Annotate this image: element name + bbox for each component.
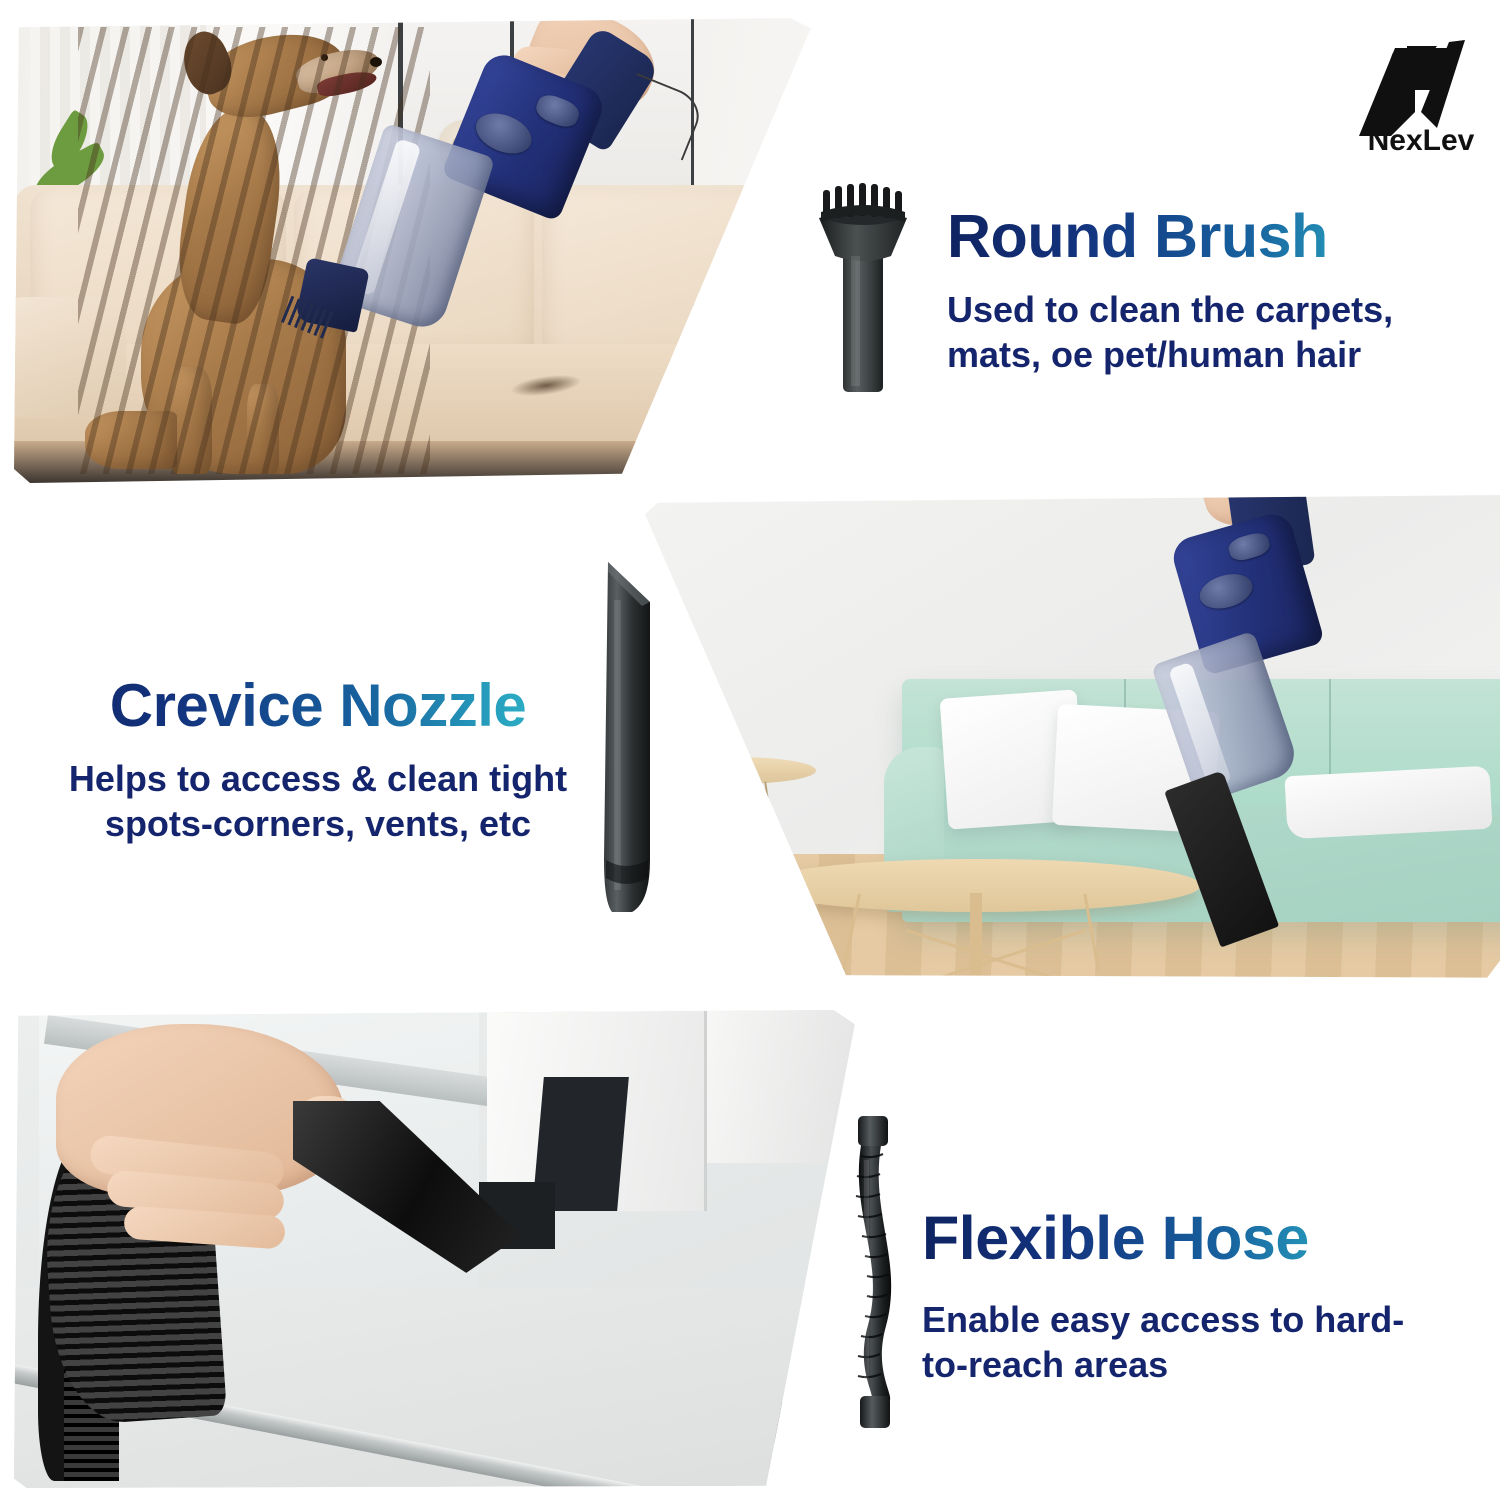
feature-description-crevice-nozzle: Helps to access & clean tight spots-corn… — [18, 756, 618, 847]
nexlev-n-logo-icon: NexLev — [1345, 34, 1495, 154]
photo-panel-flexible-hose — [14, 1010, 859, 1488]
feature-text-flexible-hose: Flexible Hose Enable easy access to hard… — [922, 1208, 1442, 1388]
feature-text-round-brush: Round Brush Used to clean the carpets, m… — [947, 206, 1467, 378]
infographic-stage: NexLev — [0, 0, 1500, 1500]
feature-text-crevice-nozzle: Crevice Nozzle Helps to access & clean t… — [18, 676, 618, 847]
brand-logo: NexLev — [1345, 34, 1495, 154]
feature-description-flexible-hose: Enable easy access to hard-to-reach area… — [922, 1297, 1442, 1388]
flexible-hose-product-image — [828, 1100, 918, 1440]
feature-title-round-brush: Round Brush — [947, 206, 1467, 267]
feature-description-round-brush: Used to clean the carpets, mats, oe pet/… — [947, 287, 1467, 378]
feature-title-crevice-nozzle: Crevice Nozzle — [18, 676, 618, 736]
scene-mint-living-room — [645, 495, 1500, 980]
scene-dog-sofa — [14, 18, 814, 483]
round-brush-attachment-icon — [805, 182, 920, 392]
scene-window-track — [14, 1010, 859, 1488]
dust-cup — [1151, 631, 1301, 805]
brand-name: NexLev — [1368, 124, 1475, 154]
flexible-hose-attachment-icon — [828, 1100, 918, 1440]
photo-panel-crevice-nozzle — [645, 495, 1500, 980]
round-brush-product-image — [805, 182, 920, 392]
photo-panel-round-brush — [14, 18, 814, 483]
feature-title-flexible-hose: Flexible Hose — [922, 1208, 1442, 1269]
